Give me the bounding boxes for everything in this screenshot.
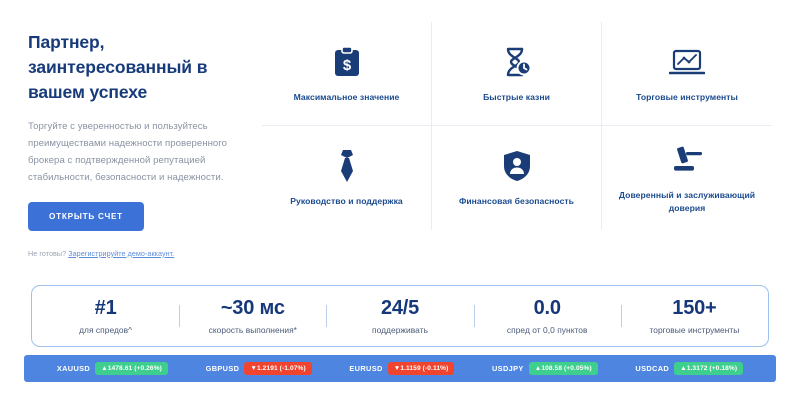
stat-label: спред от 0,0 пунктов [507,325,588,335]
stats-card: #1 для спредов^ ~30 мс скорость выполнен… [31,285,769,347]
page-title: Партнер, заинтересованный в вашем успехе [28,30,243,105]
feature-item-max-value[interactable]: $ Максимальное значение [262,22,432,126]
feature-label: Руководство и поддержка [290,195,403,207]
feature-label: Финансовая безопасность [459,195,574,207]
status-badge: ▲1.3172 (+0.18%) [674,362,743,375]
clipboard-dollar-icon: $ [333,44,361,80]
stat-item-spreads: #1 для спредов^ [32,297,179,335]
stat-item-spread-points: 0.0 спред от 0,0 пунктов [474,297,621,335]
demo-account-note: Не готовы? Зарегистрируйте демо-аккаунт. [28,249,262,258]
ticker-item-usdcad[interactable]: USDCAD ▲1.3172 (+0.18%) [635,362,743,375]
hero-section: Партнер, заинтересованный в вашем успехе… [0,0,800,258]
ticker-item-gbpusd[interactable]: GBPUSD ▼1.2191 (-1.07%) [206,362,312,375]
feature-label: Максимальное значение [294,91,400,103]
landing-page: Партнер, заинтересованный в вашем успехе… [0,0,800,400]
market-ticker-bar: XAUUSD ▲1478.61 (+0.26%) GBPUSD ▼1.2191 … [24,355,776,382]
ticker-symbol: GBPUSD [206,364,240,373]
ticker-symbol: EURUSD [349,364,382,373]
demo-note-text: Не готовы? [28,249,68,258]
svg-text:$: $ [342,57,351,74]
status-badge: ▼1.2191 (-1.07%) [244,362,311,375]
stat-item-support: 24/5 поддерживать [326,297,473,335]
stat-label: поддерживать [372,325,428,335]
ticker-item-eurusd[interactable]: EURUSD ▼1.1159 (-0.11%) [349,362,454,375]
stat-label: для спредов^ [79,325,132,335]
stat-value: 150+ [672,297,716,320]
stat-value: 24/5 [381,297,419,320]
demo-account-link[interactable]: Зарегистрируйте демо-аккаунт. [68,249,174,258]
status-badge: ▲108.58 (+0.05%) [529,362,598,375]
hourglass-clock-icon [501,44,533,80]
feature-grid: $ Максимальное значение Быстрые казни [262,22,772,230]
feature-item-fast-execution[interactable]: Быстрые казни [432,22,602,126]
status-badge: ▼1.1159 (-0.11%) [388,362,455,375]
feature-item-guidance-support[interactable]: Руководство и поддержка [262,126,432,230]
ticker-item-xauusd[interactable]: XAUUSD ▲1478.61 (+0.26%) [57,362,168,375]
hero-copy: Партнер, заинтересованный в вашем успехе… [0,0,262,258]
laptop-chart-icon [669,44,705,80]
stat-item-instruments: 150+ торговые инструменты [621,297,768,335]
gavel-icon [670,142,704,178]
ticker-symbol: USDJPY [492,364,524,373]
stat-item-execution-speed: ~30 мс скорость выполнения* [179,297,326,335]
feature-label: Быстрые казни [483,91,550,103]
status-badge: ▲1478.61 (+0.26%) [95,362,168,375]
feature-label: Торговые инструменты [636,91,738,103]
necktie-icon [334,148,360,184]
feature-item-trusted[interactable]: Доверенный и заслуживающий доверия [602,126,772,230]
hero-subtitle: Торгуйте с уверенностью и пользуйтесь пр… [28,118,246,186]
feature-item-trading-tools[interactable]: Торговые инструменты [602,22,772,126]
feature-label: Доверенный и заслуживающий доверия [612,189,762,214]
stat-value: ~30 мс [221,297,285,320]
stat-value: #1 [95,297,117,320]
stat-label: скорость выполнения* [209,325,297,335]
ticker-symbol: XAUUSD [57,364,90,373]
stat-value: 0.0 [534,297,561,320]
ticker-symbol: USDCAD [635,364,669,373]
open-account-button[interactable]: ОТКРЫТЬ СЧЕТ [28,202,144,231]
stat-label: торговые инструменты [649,325,739,335]
feature-item-financial-security[interactable]: Финансовая безопасность [432,126,602,230]
shield-person-icon [503,148,531,184]
ticker-item-usdjpy[interactable]: USDJPY ▲108.58 (+0.05%) [492,362,598,375]
